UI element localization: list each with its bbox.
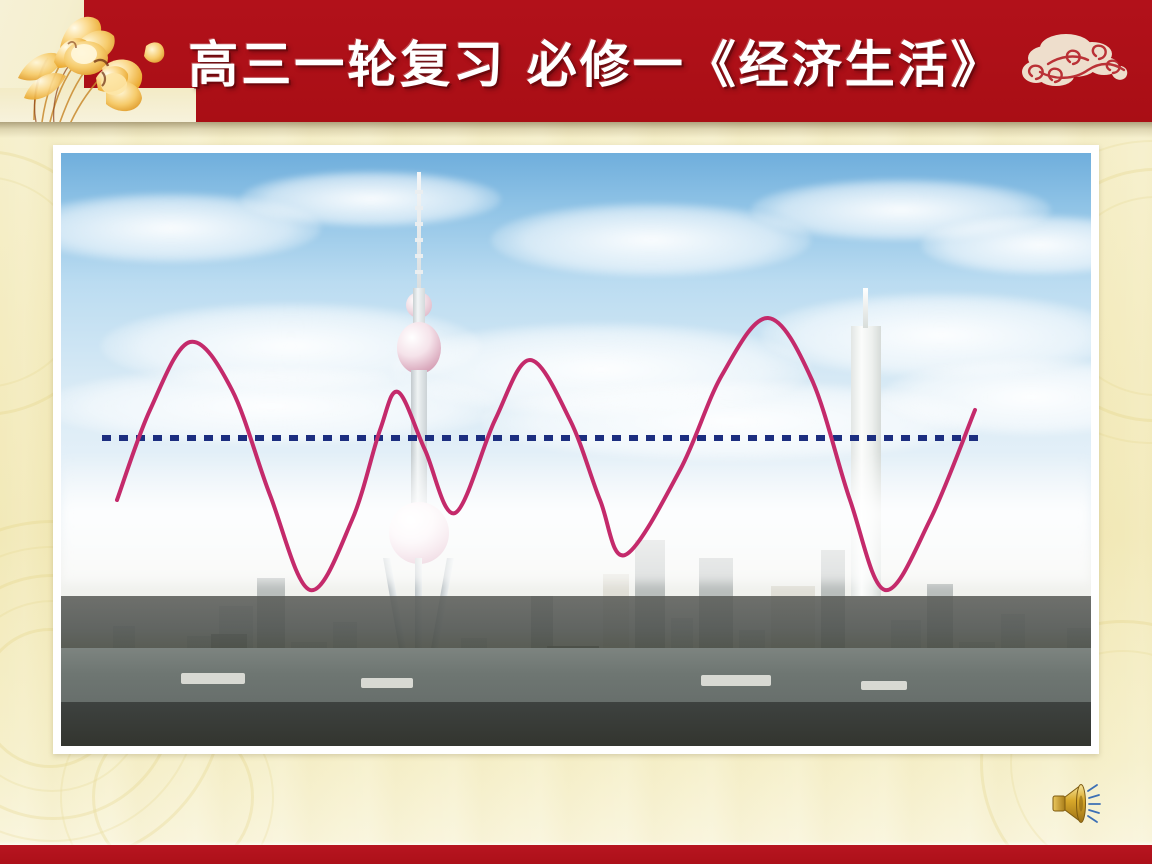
banner-title: 高三一轮复习 必修一《经济生活》 bbox=[0, 0, 1152, 122]
photo-frame bbox=[53, 145, 1099, 754]
economic-cycle-chart-overlay bbox=[61, 153, 1091, 746]
shanghai-pudong-skyline-photo bbox=[61, 153, 1091, 746]
speaker-audio-icon[interactable] bbox=[1048, 778, 1106, 828]
footer-bar bbox=[0, 845, 1152, 864]
economic-cycle-curve bbox=[117, 318, 975, 590]
header-banner: 高三一轮复习 必修一《经济生活》 bbox=[0, 0, 1152, 122]
slide-root: 高三一轮复习 必修一《经济生活》 bbox=[0, 0, 1152, 864]
banner-title-text: 高三一轮复习 必修一《经济生活》 bbox=[188, 25, 1003, 97]
